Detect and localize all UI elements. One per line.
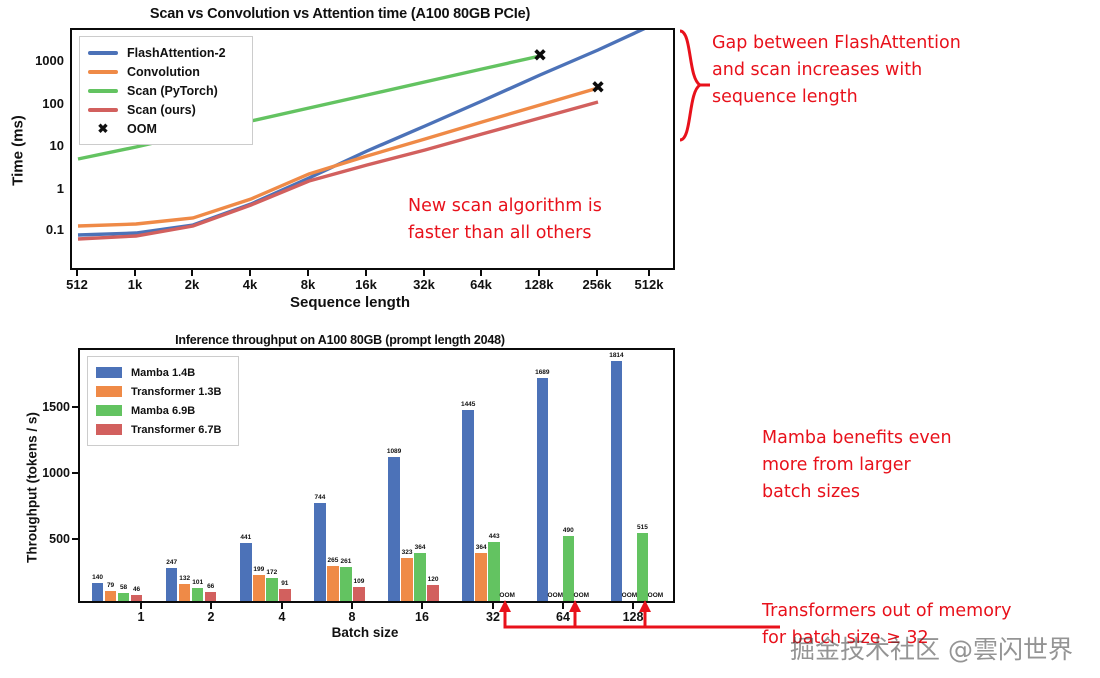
legend-swatch-scan-pytorch <box>88 89 118 93</box>
bar-value-label: 1089 <box>382 448 406 455</box>
oom-x-icon: ✖ <box>88 121 118 137</box>
bar <box>131 595 143 601</box>
bar-value-label: 443 <box>482 533 506 540</box>
bottom-xtick-label-16: 16 <box>402 610 442 624</box>
bar <box>388 457 400 601</box>
bar-value-label: 490 <box>557 527 581 534</box>
legend-swatch-convolution <box>88 70 118 74</box>
bar-value-label: 66 <box>199 583 223 590</box>
top-xtick-label-1k: 1k <box>115 277 155 292</box>
bar <box>611 361 623 601</box>
top-chart-legend: FlashAttention-2 Convolution Scan (PyTor… <box>79 36 253 145</box>
top-chart-title: Scan vs Convolution vs Attention time (A… <box>0 6 680 22</box>
bar-oom-label: OOM <box>644 592 668 599</box>
bar-value-label: 744 <box>308 494 332 501</box>
bar <box>537 378 549 601</box>
bar <box>353 587 365 601</box>
legend-swatch-scan-ours <box>88 108 118 112</box>
batch-annotation-text: Mamba benefits even more from larger bat… <box>762 425 1082 506</box>
legend-item-flashattention: FlashAttention-2 <box>88 43 242 62</box>
bar <box>253 575 265 601</box>
bar <box>105 591 117 601</box>
top-xtick-label-2k: 2k <box>172 277 212 292</box>
top-xtick-label-4k: 4k <box>230 277 270 292</box>
bottom-xtick-label-8: 8 <box>332 610 372 624</box>
top-ytick-0: 0.1 <box>28 222 64 237</box>
top-xtick-label-8k: 8k <box>288 277 328 292</box>
bar-value-label: 172 <box>260 569 284 576</box>
legend-label-oom: OOM <box>127 122 157 136</box>
bar <box>166 568 178 601</box>
bar-value-label: 1445 <box>456 401 480 408</box>
bar-value-label: 91 <box>273 580 297 587</box>
bar <box>475 553 487 601</box>
top-xtick-label-64k: 64k <box>459 277 503 292</box>
bar <box>401 558 413 601</box>
legend-swatch-flashattention <box>88 51 118 55</box>
top-chart-ylabel: Time (ms) <box>10 101 27 201</box>
bottom-xtick-label-1: 1 <box>121 610 161 624</box>
bar <box>179 584 191 601</box>
bar-oom-label: OOM <box>570 592 594 599</box>
legend-item-scan-pytorch: Scan (PyTorch) <box>88 81 242 100</box>
bottom-ytick-1500: 1500 <box>24 400 70 414</box>
oom-marker-convolution: ✖ <box>591 78 605 98</box>
top-xtick-label-32k: 32k <box>402 277 446 292</box>
bar <box>427 585 439 601</box>
bottom-plot-area: Mamba 1.4B Transformer 1.3B Mamba 6.9B T… <box>78 348 675 603</box>
legend-item-convolution: Convolution <box>88 62 242 81</box>
legend-label-scan-ours: Scan (ours) <box>127 103 196 117</box>
bottom-chart-ylabel: Throughput (tokens / s) <box>25 393 40 583</box>
bottom-ytick-1000: 1000 <box>24 466 70 480</box>
top-ytick-4: 1000 <box>16 53 64 68</box>
bar-value-label: 1814 <box>605 352 629 359</box>
top-ytick-1: 1 <box>28 181 64 196</box>
top-xtick-label-512: 512 <box>57 277 97 292</box>
bar-value-label: 515 <box>631 524 655 531</box>
bar <box>279 589 291 601</box>
top-ytick-3: 100 <box>22 96 64 111</box>
gap-annotation-brace <box>676 28 712 146</box>
bar-value-label: 441 <box>234 534 258 541</box>
bar-value-label: 109 <box>347 578 371 585</box>
bar-value-label: 364 <box>408 544 432 551</box>
bar-value-label: 1689 <box>531 369 555 376</box>
bar <box>118 593 130 601</box>
top-xtick-label-128k: 128k <box>513 277 565 292</box>
legend-label-convolution: Convolution <box>127 65 200 79</box>
bottom-xtick-label-4: 4 <box>262 610 302 624</box>
top-chart-xlabel: Sequence length <box>185 294 515 311</box>
top-xtick-label-16k: 16k <box>344 277 388 292</box>
bottom-xtick-label-2: 2 <box>191 610 231 624</box>
watermark: 掘金技术社区 @雲闪世界 <box>790 630 1073 666</box>
top-ytick-2: 10 <box>28 138 64 153</box>
bar-value-label: 120 <box>421 576 445 583</box>
bar-oom-label: OOM <box>495 592 519 599</box>
gap-annotation-text: Gap between FlashAttention and scan incr… <box>712 30 1072 111</box>
bar-value-label: 261 <box>334 558 358 565</box>
bar <box>327 566 339 601</box>
bar <box>314 503 326 601</box>
legend-label-scan-pytorch: Scan (PyTorch) <box>127 84 218 98</box>
oom-annotation-arrows <box>495 600 785 644</box>
bottom-chart-xlabel: Batch size <box>215 625 515 640</box>
oom-marker-scan-pytorch: ✖ <box>533 46 547 66</box>
bar <box>637 533 649 601</box>
top-xtick-label-512k: 512k <box>623 277 675 292</box>
bar-value-label: 247 <box>160 559 184 566</box>
top-xtick-label-256k: 256k <box>571 277 623 292</box>
bottom-ytick-500: 500 <box>30 532 70 546</box>
legend-item-scan-ours: Scan (ours) <box>88 100 242 119</box>
bar-value-label: 140 <box>86 574 110 581</box>
top-chart-figure: Scan vs Convolution vs Attention time (A… <box>0 0 700 315</box>
bottom-chart-title: Inference throughput on A100 80GB (promp… <box>0 333 680 347</box>
svg-text:✖: ✖ <box>591 78 605 98</box>
svg-text:✖: ✖ <box>533 46 547 66</box>
bottom-chart-bars: 1407958462471321016644119917291744265261… <box>80 350 673 601</box>
bar <box>205 592 217 601</box>
legend-item-oom: ✖ OOM <box>88 119 242 138</box>
faster-annotation-text: New scan algorithm is faster than all ot… <box>408 193 678 247</box>
bar <box>462 410 474 601</box>
legend-label-flashattention: FlashAttention-2 <box>127 46 226 60</box>
bar-value-label: 46 <box>125 586 149 593</box>
